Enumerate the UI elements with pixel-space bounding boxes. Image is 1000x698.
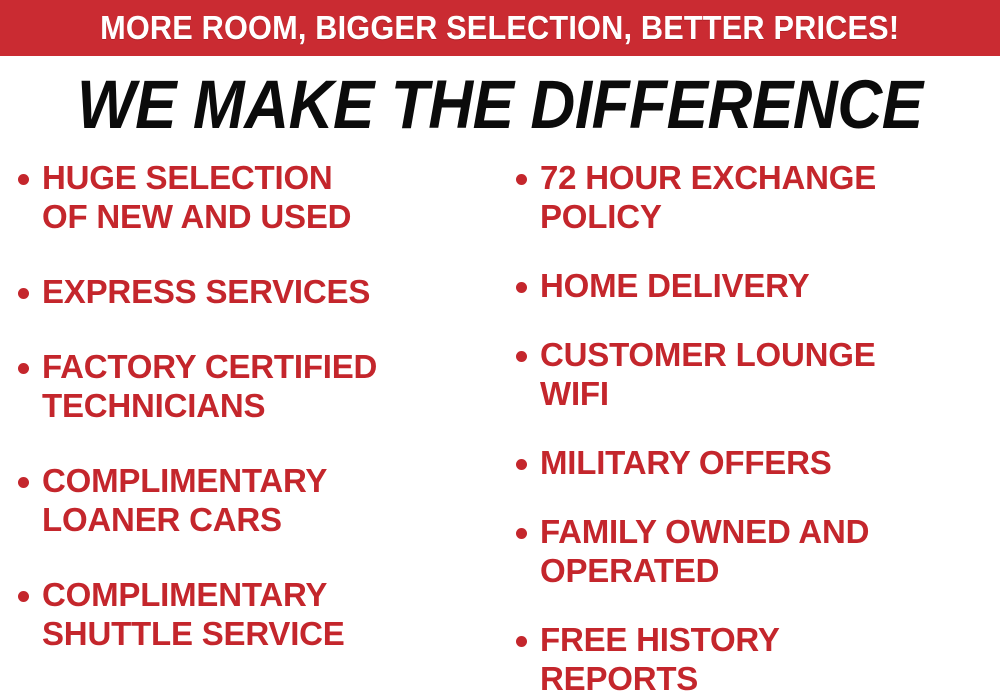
list-item-label: FREE HISTORY REPORTS xyxy=(540,620,1000,698)
bullet-dot-icon xyxy=(18,174,29,185)
list-item-label: 72 HOUR EXCHANGE POLICY xyxy=(540,158,1000,236)
list-item: FAMILY OWNED AND OPERATED xyxy=(516,512,1000,590)
list-item: COMPLIMENTARY SHUTTLE SERVICE xyxy=(18,575,500,653)
bullet-dot-icon xyxy=(516,174,527,185)
bullet-dot-icon xyxy=(18,591,29,602)
list-item: EXPRESS SERVICES xyxy=(18,272,500,311)
page-title: WE MAKE THE DIFFERENCE xyxy=(77,69,923,141)
list-item: HOME DELIVERY xyxy=(516,266,1000,305)
list-item: MILITARY OFFERS xyxy=(516,443,1000,482)
list-item: 72 HOUR EXCHANGE POLICY xyxy=(516,158,1000,236)
list-item-label: COMPLIMENTARY LOANER CARS xyxy=(42,461,500,539)
benefits-column-right: 72 HOUR EXCHANGE POLICY HOME DELIVERY CU… xyxy=(500,158,1000,698)
top-banner: MORE ROOM, BIGGER SELECTION, BETTER PRIC… xyxy=(0,0,1000,56)
bullet-dot-icon xyxy=(18,363,29,374)
list-item: FACTORY CERTIFIED TECHNICIANS xyxy=(18,347,500,425)
list-item-label: FAMILY OWNED AND OPERATED xyxy=(540,512,1000,590)
list-item: COMPLIMENTARY LOANER CARS xyxy=(18,461,500,539)
list-item-label: HUGE SELECTION OF NEW AND USED xyxy=(42,158,500,236)
list-item: FREE HISTORY REPORTS xyxy=(516,620,1000,698)
bullet-dot-icon xyxy=(516,636,527,647)
list-item: HUGE SELECTION OF NEW AND USED xyxy=(18,158,500,236)
list-item: CUSTOMER LOUNGE WIFI xyxy=(516,335,1000,413)
promo-poster: MORE ROOM, BIGGER SELECTION, BETTER PRIC… xyxy=(0,0,1000,694)
bullet-dot-icon xyxy=(18,288,29,299)
banner-headline-text: MORE ROOM, BIGGER SELECTION, BETTER PRIC… xyxy=(100,11,899,45)
bullet-dot-icon xyxy=(516,459,527,470)
bullet-dot-icon xyxy=(516,528,527,539)
list-item-label: MILITARY OFFERS xyxy=(540,443,1000,482)
benefits-columns: HUGE SELECTION OF NEW AND USED EXPRESS S… xyxy=(0,158,1000,694)
bullet-dot-icon xyxy=(516,351,527,362)
list-item-label: HOME DELIVERY xyxy=(540,266,1000,305)
bullet-dot-icon xyxy=(516,282,527,293)
list-item-label: CUSTOMER LOUNGE WIFI xyxy=(540,335,1000,413)
list-item-label: COMPLIMENTARY SHUTTLE SERVICE xyxy=(42,575,500,653)
list-item-label: EXPRESS SERVICES xyxy=(42,272,500,311)
list-item-label: FACTORY CERTIFIED TECHNICIANS xyxy=(42,347,500,425)
bullet-dot-icon xyxy=(18,477,29,488)
headline-container: WE MAKE THE DIFFERENCE xyxy=(0,64,1000,146)
benefits-column-left: HUGE SELECTION OF NEW AND USED EXPRESS S… xyxy=(0,158,500,653)
